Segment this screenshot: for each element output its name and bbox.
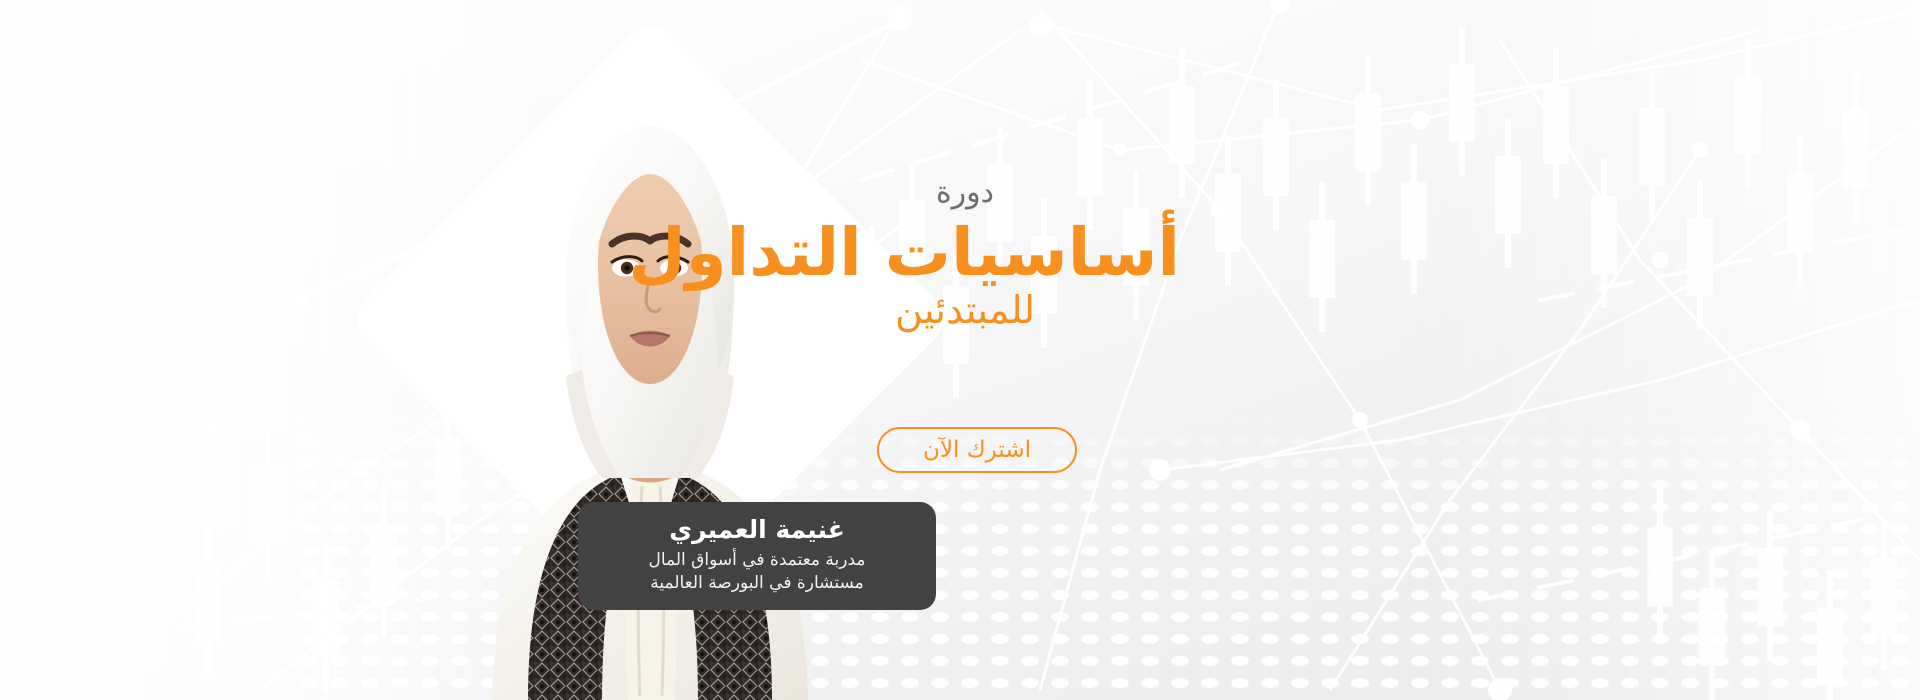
speaker-credential-1: مدربة معتمدة في أسواق المال [596, 549, 918, 571]
left-light-wash [0, 0, 620, 700]
course-promo-banner: دورة أساسيات التداول للمبتدئين اشترك الآ… [0, 0, 1920, 700]
page-title: أساسيات التداول [750, 218, 1180, 288]
page-subtitle: للمبتدئين [750, 290, 1180, 332]
subscribe-now-button[interactable]: اشترك الآن [877, 427, 1077, 473]
cta-container: اشترك الآن [877, 427, 1077, 473]
eyebrow-label: دورة [750, 178, 1180, 208]
candlestick-network-pattern-icon [0, 0, 1920, 700]
right-light-wash [1400, 0, 1920, 700]
speaker-info-card: غنيمة العميري مدربة معتمدة في أسواق الما… [578, 502, 936, 610]
speaker-name: غنيمة العميري [596, 514, 918, 545]
headline-block: دورة أساسيات التداول للمبتدئين [750, 178, 1180, 332]
background-artwork [0, 0, 1920, 700]
speaker-credential-2: مستشارة في البورصة العالمية [596, 572, 918, 594]
